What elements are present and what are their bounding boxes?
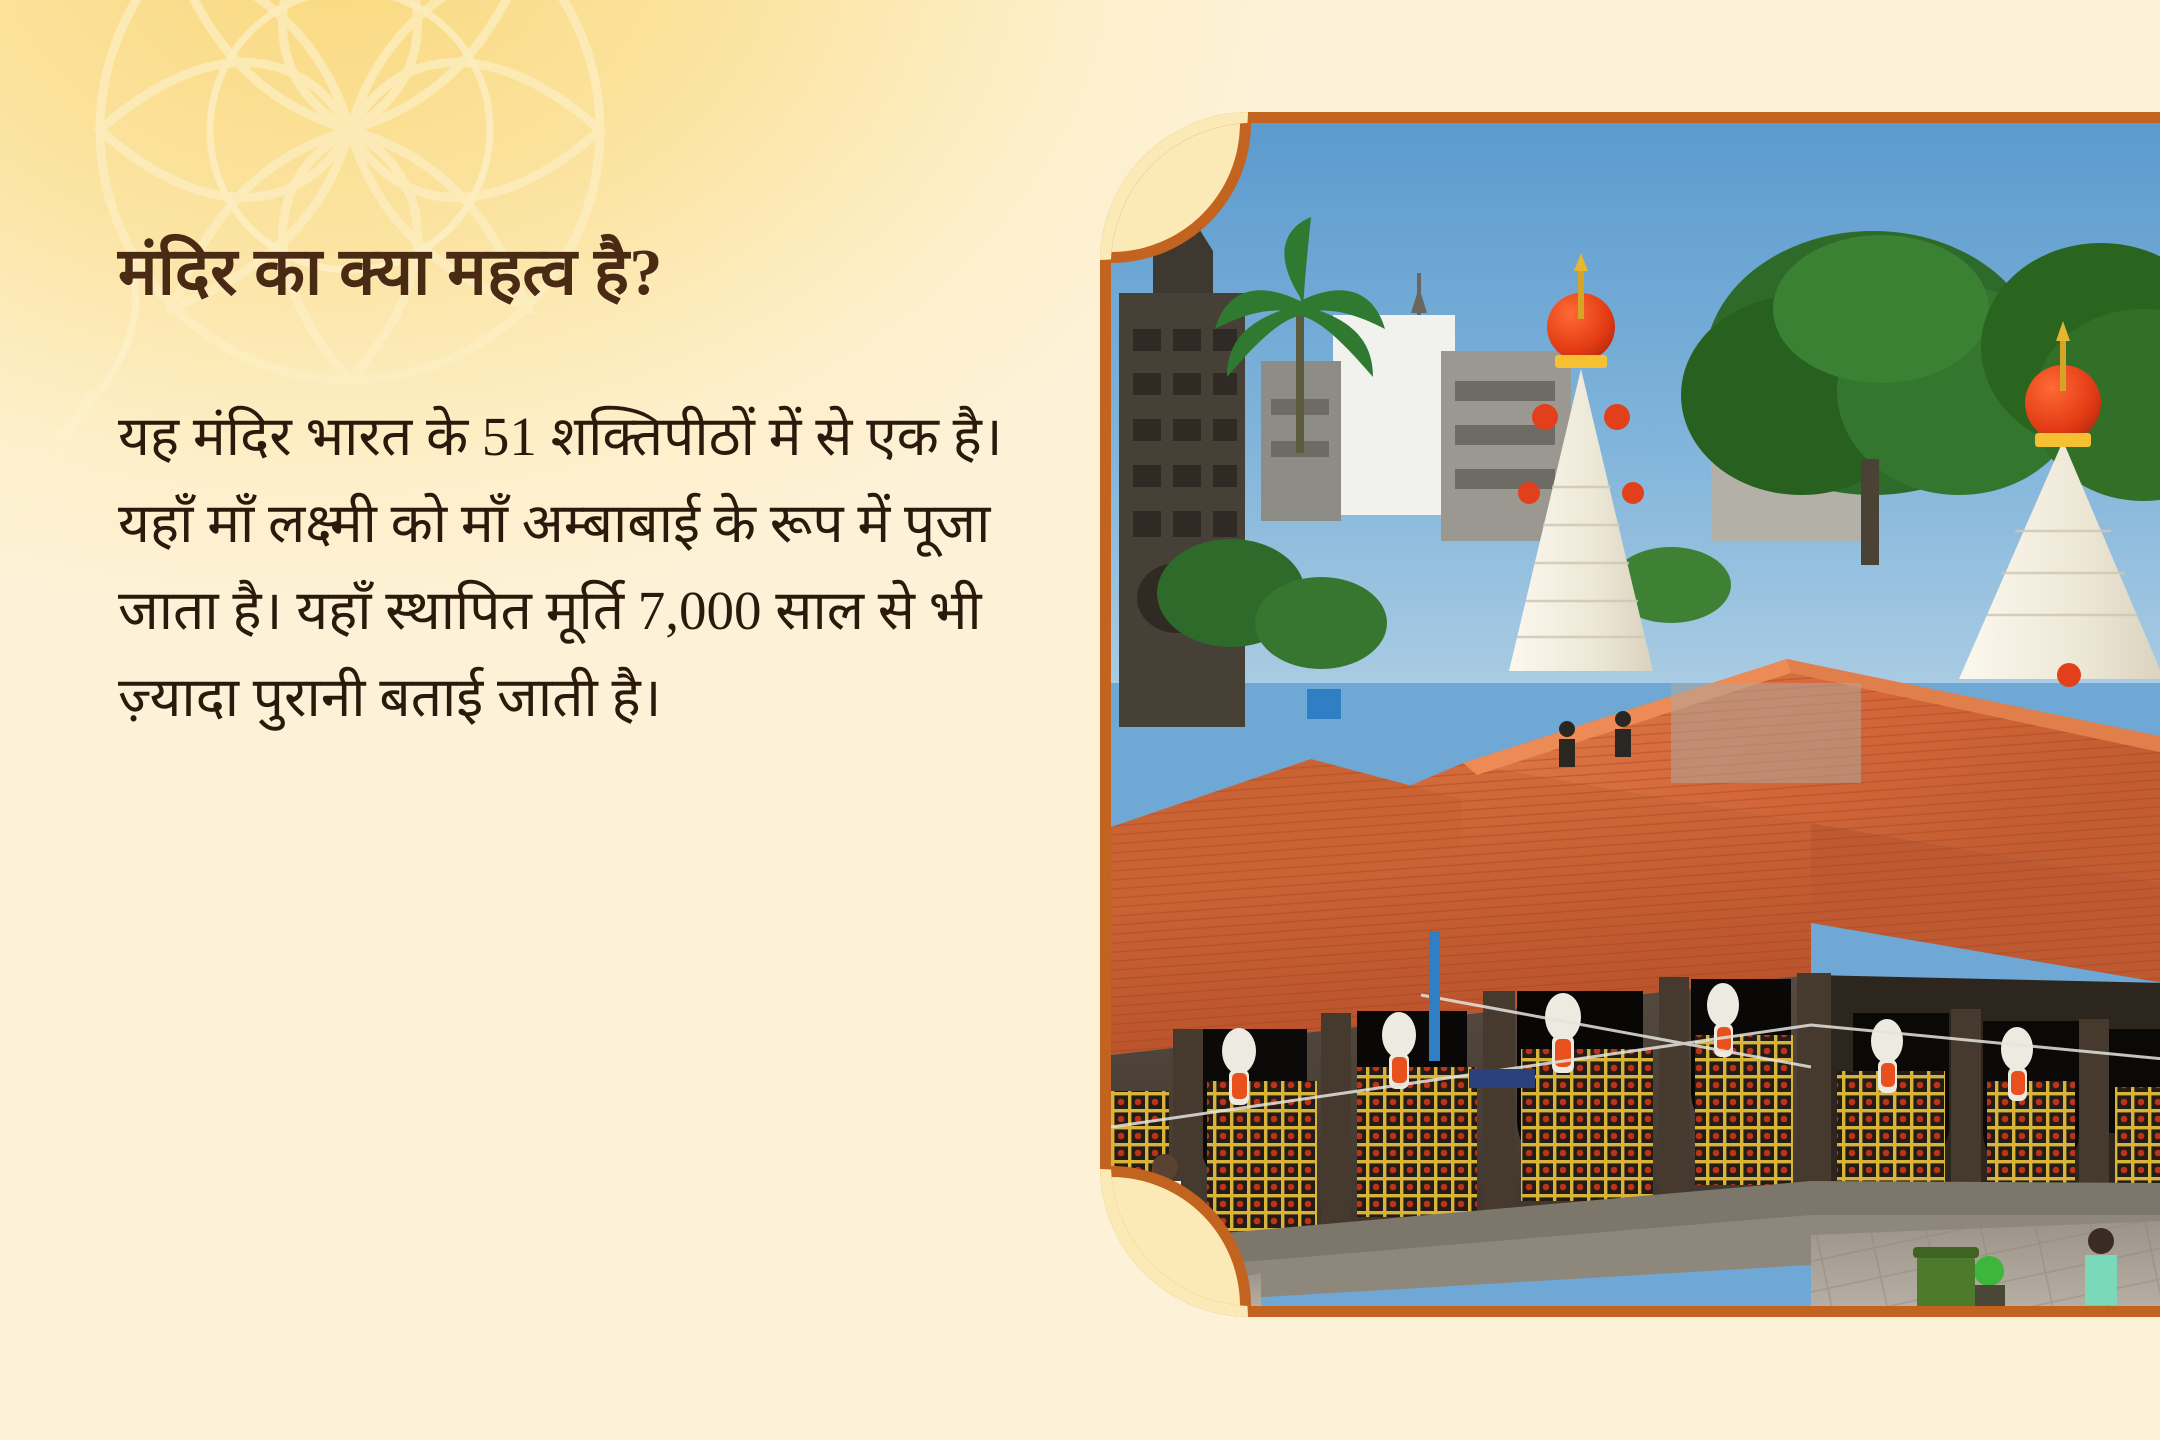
photo-frame <box>1100 112 2160 1317</box>
dustbin <box>1913 1247 1979 1306</box>
text-column: मंदिर का क्या महत्व है? यह मंदिर भारत के… <box>118 236 1058 741</box>
temple-photo <box>1111 123 2160 1306</box>
visitor-mint-shirt <box>2085 1228 2117 1305</box>
body-paragraph: यह मंदिर भारत के 51 शक्तिपीठों में से एक… <box>118 394 1048 742</box>
page-title: मंदिर का क्या महत्व है? <box>118 236 1058 310</box>
